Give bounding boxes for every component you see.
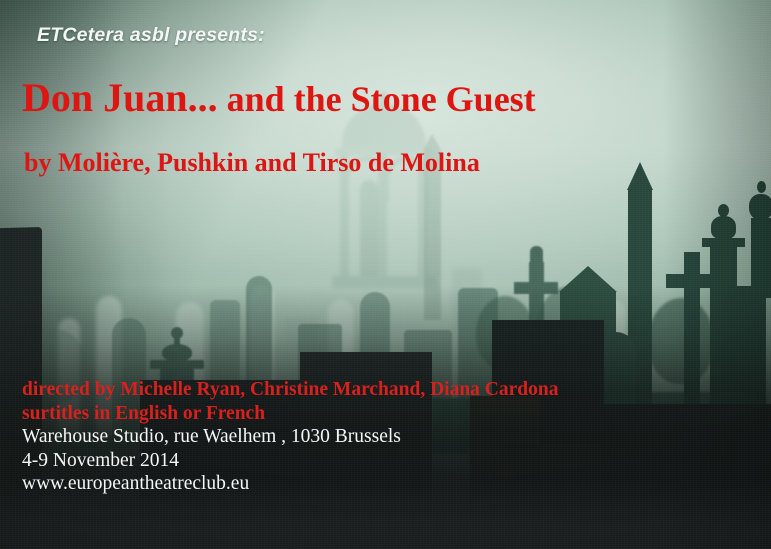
page-title: Don Juan... and the Stone Guest (22, 78, 536, 118)
credits-block: directed by Michelle Ryan, Christine Mar… (22, 378, 742, 496)
dates-line: 4-9 November 2014 (22, 449, 742, 473)
credit-line: surtitles in English or French (22, 402, 742, 426)
website-line[interactable]: www.europeantheatreclub.eu (22, 472, 742, 496)
venue-line: Warehouse Studio, rue Waelhem , 1030 Bru… (22, 425, 742, 449)
title-main: Don Juan... (22, 75, 218, 120)
poster-text: ETCetera asbl presents: Don Juan... and … (0, 0, 771, 549)
authors-line: by Molière, Pushkin and Tirso de Molina (24, 150, 480, 176)
credit-line: directed by Michelle Ryan, Christine Mar… (22, 378, 742, 402)
title-rest: and the Stone Guest (218, 79, 536, 119)
theatre-poster: ETCetera asbl presents: Don Juan... and … (0, 0, 771, 549)
presents-line: ETCetera asbl presents: (37, 24, 265, 47)
